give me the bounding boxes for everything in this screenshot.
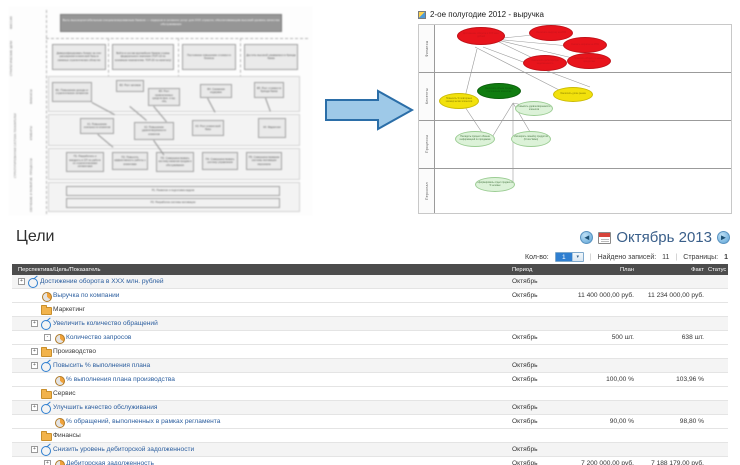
row-name-cell: Сервис	[12, 389, 512, 398]
kpi-icon	[54, 417, 63, 426]
map-node-11[interactable]: Расширить линейку продуктов (Cross Sales…	[511, 131, 551, 147]
diagrams-area: МИССИЯ СТРАТЕГИЧЕСКИЕ ЦЕЛИ ФИНАНСЫ КЛИЕН…	[0, 0, 740, 222]
flow-node-p2: П2. Повысить эффективность работы с клие…	[112, 152, 148, 170]
table-row[interactable]: +Снизить уровень дебиторской задолженнос…	[12, 443, 728, 457]
flow-node-f4: Ф4. Снижение издержек	[200, 84, 232, 98]
map-node-1[interactable]: Достижение оборота в XXX млн. рублей	[457, 27, 505, 45]
table-row[interactable]: % обращений, выполненных в рамках реглам…	[12, 415, 728, 429]
flow-axis-mission: МИССИЯ	[10, 12, 13, 34]
row-name-cell: +Дебиторская задолженность	[12, 459, 512, 465]
row-period: Октябрь	[512, 460, 564, 465]
table-row[interactable]: Маркетинг	[12, 303, 728, 317]
col-header-plan[interactable]: План	[564, 267, 634, 273]
transform-arrow	[322, 88, 417, 132]
found-records-value: 11	[662, 254, 669, 261]
row-label[interactable]: % выполнения плана производства	[66, 376, 175, 383]
folder-icon	[41, 389, 50, 398]
toolbar-divider-2: |	[675, 254, 677, 261]
lane-label-processes: Процессы	[419, 120, 435, 168]
table-row[interactable]: +Улучшить качество обслуживанияОктябрь6,…	[12, 401, 728, 415]
date-navigator: ◄ Октябрь 2013 ►	[580, 229, 730, 246]
chevron-down-icon[interactable]: ▾	[572, 253, 583, 261]
goal-icon	[41, 361, 50, 370]
flow-node-k3: К3. Рост клиентской базы	[192, 120, 224, 136]
row-label[interactable]: % обращений, выполненных в рамках реглам…	[66, 418, 220, 425]
row-period: Октябрь	[512, 292, 564, 299]
row-name-cell: +Достижение оборота в XXX млн. рублей	[12, 277, 512, 286]
flow-node-r1: Р1. Развитие и подготовка кадров	[66, 186, 280, 196]
chart-icon	[418, 11, 426, 19]
app-root: МИССИЯ СТРАТЕГИЧЕСКИЕ ЦЕЛИ ФИНАНСЫ КЛИЕН…	[0, 0, 740, 465]
strategy-flow-diagram: МИССИЯ СТРАТЕГИЧЕСКИЕ ЦЕЛИ ФИНАНСЫ КЛИЕН…	[8, 6, 313, 216]
strategy-map-card: 2-ое полугодие 2012 - выручка Финансы Кл…	[418, 8, 732, 216]
lane-label-clients: Клиенты	[419, 72, 435, 120]
row-label[interactable]: Выручка по компании	[53, 292, 119, 299]
row-label[interactable]: Достижение оборота в XXX млн. рублей	[40, 278, 164, 285]
row-fact: 638 шт.	[634, 334, 704, 341]
expand-toggle[interactable]: +	[31, 362, 38, 369]
flow-strategic-goal-3: Постоянное повышение стоимости бизнеса	[182, 44, 236, 70]
pages-label: Страницы:	[683, 254, 718, 261]
strategy-map-title-bar: 2-ое полугодие 2012 - выручка	[418, 8, 732, 21]
current-period-label: Октябрь 2013	[616, 229, 712, 246]
kpi-icon	[54, 375, 63, 384]
folder-icon	[41, 305, 50, 314]
flow-side-label: СТРУКТУРИРОВАННАЯ СИСТЕМА ПОКАЗАТЕЛЕЙ	[14, 80, 17, 212]
row-name-cell: Маркетинг	[12, 305, 512, 314]
row-fact: 103,96 %	[634, 376, 704, 383]
count-select[interactable]: 1 ▾	[555, 252, 584, 262]
row-label: Сервис	[53, 390, 76, 397]
flow-strategic-goal-4: Достичь высокой узнаваемости бренда банк…	[244, 44, 298, 70]
table-row[interactable]: % выполнения плана производстваОктябрь10…	[12, 373, 728, 387]
page-title: Цели	[16, 228, 54, 246]
flow-axis-finance: ФИНАНСЫ	[30, 80, 33, 114]
map-node-12[interactable]: Сформировать отдел продаж из 5 человек	[475, 177, 515, 192]
expand-toggle[interactable]: +	[31, 446, 38, 453]
strategy-map-canvas[interactable]: Финансы Клиенты Процессы Персонал	[418, 24, 732, 214]
flow-strategic-goal-1: Диверсифицировать бизнес за счет расшире…	[52, 44, 106, 70]
row-label: Производство	[53, 348, 96, 355]
map-node-2[interactable]: Увеличить выручку на 20%	[529, 25, 573, 41]
row-label: Маркетинг	[53, 306, 85, 313]
flow-axis-clients: КЛИЕНТЫ	[30, 118, 33, 148]
flow-node-f2: Ф2. Рост активов	[116, 80, 144, 92]
col-header-name[interactable]: Перспектива/Цель/Показатель	[12, 267, 512, 273]
map-node-7[interactable]: Увеличить объем продаж постоянным клиент…	[477, 83, 521, 99]
goal-icon	[41, 319, 50, 328]
row-label[interactable]: Количество запросов	[66, 334, 131, 341]
kpi-icon	[41, 291, 50, 300]
table-toolbar: Кол-во: 1 ▾ | Найдено записей: 11 | Стра…	[0, 250, 740, 264]
col-header-status[interactable]: Статус	[704, 267, 740, 273]
row-name-cell: Выручка по компании	[12, 291, 512, 300]
count-select-value[interactable]: 1	[556, 253, 572, 261]
row-period: Октябрь	[512, 376, 564, 383]
flow-strategic-goal-2: Войти в состав крупнейших банков страны …	[112, 44, 174, 70]
found-records-label: Найдено записей:	[598, 254, 657, 261]
row-period: Октябрь	[512, 446, 564, 453]
map-node-10[interactable]: Наладить процесс обмена информацией по п…	[455, 131, 495, 147]
table-row[interactable]: Финансы	[12, 429, 728, 443]
flow-node-f3: Ф3. Рост привлеченных средств физ. и юр.…	[148, 88, 180, 106]
prev-period-button[interactable]: ◄	[580, 231, 593, 244]
col-header-period[interactable]: Период	[512, 267, 564, 273]
table-row[interactable]: +Повысить % выполнения планаОктябрь21,83…	[12, 359, 728, 373]
flow-node-p3: П3. Совершенствовать систему каналов про…	[156, 152, 194, 172]
folder-icon	[41, 347, 50, 356]
row-period: Октябрь	[512, 362, 564, 369]
row-name-cell: +Производство	[12, 347, 512, 356]
flow-axis-strategic-goals: СТРАТЕГИЧЕСКИЕ ЦЕЛИ	[10, 42, 13, 76]
row-label[interactable]: Дебиторская задолженность	[66, 460, 154, 465]
expand-toggle[interactable]: +	[31, 320, 38, 327]
goal-icon	[28, 277, 37, 286]
row-name-cell: +Повысить % выполнения плана	[12, 361, 512, 370]
row-name-cell: % обращений, выполненных в рамках реглам…	[12, 417, 512, 426]
map-node-4[interactable]: Уменьшить дебиторскую задолженность	[523, 55, 567, 71]
row-period: Октябрь	[512, 418, 564, 425]
flow-node-f5: Ф5. Рост стоимости бренда банка	[254, 82, 284, 98]
col-header-fact[interactable]: Факт	[634, 267, 704, 273]
folder-icon	[41, 431, 50, 440]
row-label[interactable]: Увеличить количество обращений	[53, 320, 158, 327]
flow-node-p5: П5. Совершенствование системы мотивации …	[246, 152, 282, 170]
expand-toggle[interactable]: +	[18, 278, 25, 285]
flow-node-f1: Ф1. Повышение дохода от стратегических с…	[52, 82, 92, 102]
flow-node-k1: К1. Повышение лояльности клиентов	[80, 118, 114, 134]
row-name-cell: +Увеличить количество обращений	[12, 319, 512, 328]
flow-axis-learning: ОБУЧЕНИЕ И РАЗВИТИЕ	[30, 186, 33, 212]
next-period-button[interactable]: ►	[717, 231, 730, 244]
table-row[interactable]: +Увеличить количество обращений	[12, 317, 728, 331]
row-label: Финансы	[53, 432, 81, 439]
row-plan: 11 400 000,00 руб.	[564, 292, 634, 299]
table-row[interactable]: Выручка по компанииОктябрь11 400 000,00 …	[12, 289, 728, 303]
row-label[interactable]: Повысить % выполнения плана	[53, 362, 150, 369]
flow-node-p4: П4. Совершенствовать систему управления	[202, 152, 238, 170]
count-label: Кол-во:	[525, 254, 549, 261]
row-label[interactable]: Снизить уровень дебиторской задолженност…	[53, 446, 194, 453]
row-label[interactable]: Улучшить качество обслуживания	[53, 404, 157, 411]
lane-label-finance: Финансы	[419, 25, 435, 72]
table-row[interactable]: +Дебиторская задолженностьОктябрь7 200 0…	[12, 457, 728, 465]
row-fact: 7 188 179,00 руб.	[634, 460, 704, 465]
calendar-icon[interactable]	[598, 232, 611, 244]
table-body: +Достижение оборота в XXX млн. рублейОкт…	[12, 275, 728, 465]
map-node-5[interactable]: Повысить оборот по новым продуктам	[567, 53, 611, 69]
flow-node-k2: К2. Повышение удовлетворенности клиентов	[134, 122, 174, 140]
kpi-icon	[54, 333, 63, 342]
expand-toggle[interactable]: +	[31, 404, 38, 411]
table-header-row: Перспектива/Цель/Показатель Период План …	[12, 264, 728, 275]
pages-value[interactable]: 1	[724, 254, 728, 261]
row-plan: 100,00 %	[564, 376, 634, 383]
row-name-cell: % выполнения плана производства	[12, 375, 512, 384]
kpi-icon	[54, 459, 63, 465]
row-name-cell: Финансы	[12, 431, 512, 440]
row-fact: 11 234 000,00 руб.	[634, 292, 704, 299]
row-period: Октябрь	[512, 334, 564, 341]
row-plan: 500 шт.	[564, 334, 634, 341]
goals-table: Перспектива/Цель/Показатель Период План …	[12, 264, 728, 465]
table-row[interactable]: Сервис	[12, 387, 728, 401]
flow-mission-box: Быть высокорентабельным специализированн…	[60, 14, 282, 32]
strategy-map-title: 2-ое полугодие 2012 - выручка	[430, 10, 544, 19]
row-name-cell: +Снизить уровень дебиторской задолженнос…	[12, 445, 512, 454]
map-node-9[interactable]: Повысить удовлетворенность клиентов	[515, 101, 553, 116]
goal-icon	[41, 403, 50, 412]
row-fact: 98,80 %	[634, 418, 704, 425]
row-name-cell: -Количество запросов	[12, 333, 512, 342]
toolbar-divider-1: |	[590, 254, 592, 261]
collapse-toggle[interactable]: -	[44, 334, 51, 341]
lane-label-personnel: Персонал	[419, 168, 435, 215]
table-row[interactable]: -Количество запросовОктябрь500 шт.638 шт…	[12, 331, 728, 345]
row-name-cell: +Улучшить качество обслуживания	[12, 403, 512, 412]
goal-icon	[41, 445, 50, 454]
map-node-8[interactable]: Увеличить долю рынка	[553, 87, 593, 102]
map-node-3[interactable]: Снизить затраты на 15%	[563, 37, 607, 53]
flow-node-p1: П1. Разработать и внедрить в СП по работ…	[66, 152, 104, 172]
map-node-6[interactable]: Повысить % повторных коммерческих клиент…	[439, 93, 479, 109]
row-period: Октябрь	[512, 404, 564, 411]
row-plan: 7 200 000,00 руб.	[564, 460, 634, 465]
expand-toggle[interactable]: +	[44, 460, 51, 465]
table-row[interactable]: +Достижение оборота в XXX млн. рублейОкт…	[12, 275, 728, 289]
expand-toggle[interactable]: +	[31, 348, 38, 355]
row-plan: 90,00 %	[564, 418, 634, 425]
table-row[interactable]: +Производство	[12, 345, 728, 359]
flow-node-r2: Р2. Разработка системы мотивации	[66, 198, 280, 208]
row-period: Октябрь	[512, 278, 564, 285]
flow-node-k4: К4. Маркетинг	[258, 118, 286, 138]
